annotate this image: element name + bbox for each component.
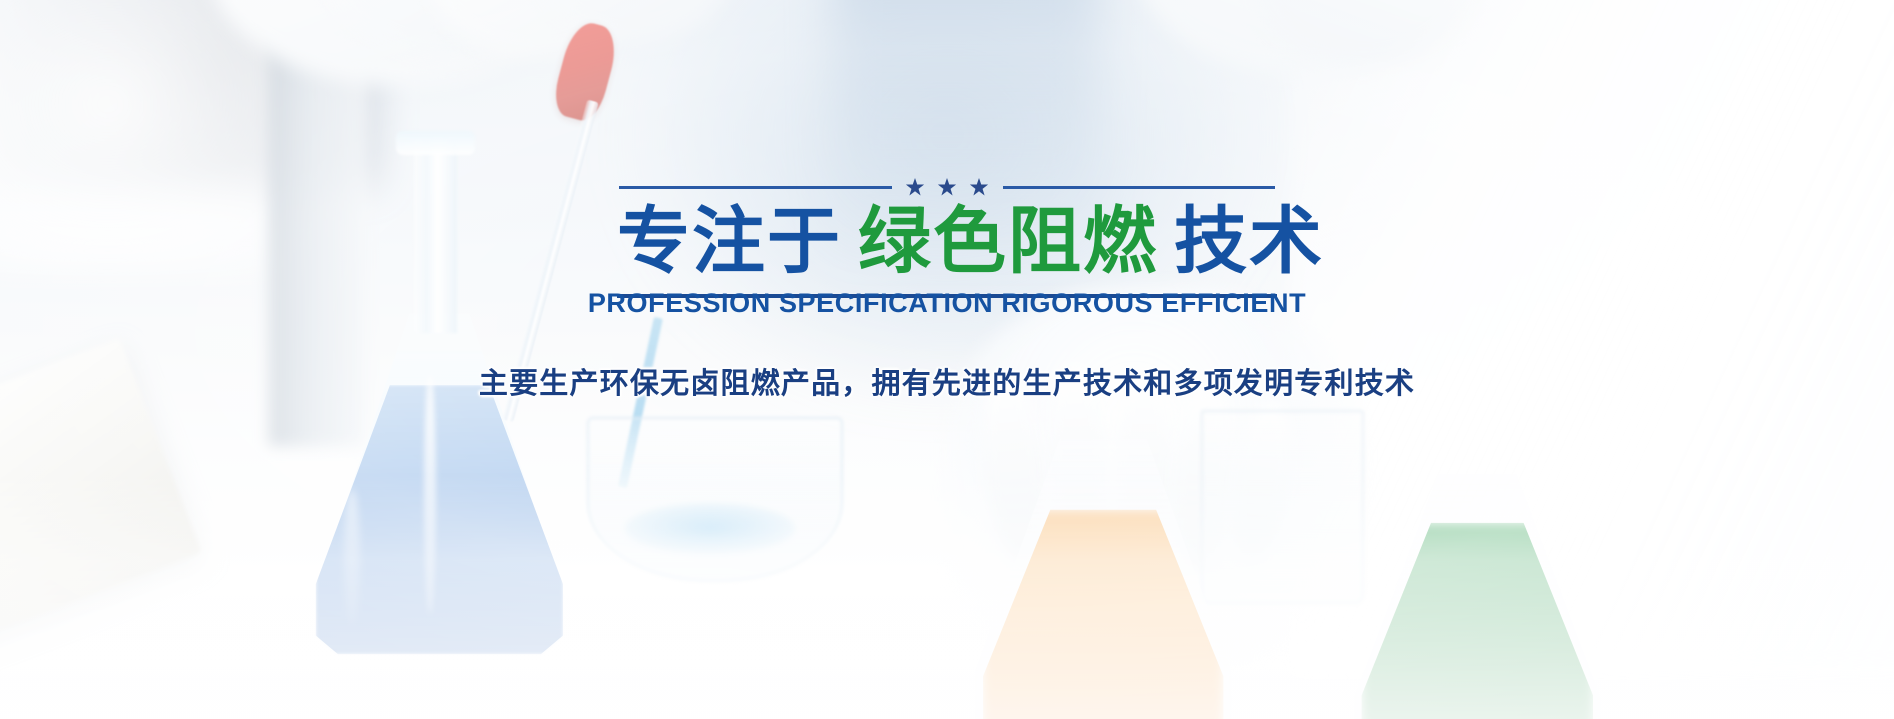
headline-part-technology: 技术: [1174, 199, 1324, 284]
star-icon: [970, 178, 989, 197]
headline-part-focus: 专注于: [617, 199, 842, 284]
divider-rule-right: [1003, 186, 1276, 189]
star-icon: [906, 178, 925, 197]
hero-banner: 专注于绿色阻燃技术 PROFESSION SPECIFICATION RIGOR…: [0, 0, 1894, 719]
banner-content: 专注于绿色阻燃技术 PROFESSION SPECIFICATION RIGOR…: [0, 0, 1894, 719]
chinese-tagline: 主要生产环保无卤阻燃产品，拥有先进的生产技术和多项发明专利技术: [479, 360, 1415, 402]
divider-rule-left: [619, 186, 892, 189]
page-title: 专注于绿色阻燃技术: [617, 197, 1277, 298]
star-group: [906, 178, 989, 197]
headline-part-green-flame: 绿色阻燃: [858, 199, 1158, 284]
divider-with-stars: [619, 178, 1275, 197]
star-icon: [938, 178, 957, 197]
english-subtitle: PROFESSION SPECIFICATION RIGOROUS EFFICI…: [588, 288, 1306, 319]
